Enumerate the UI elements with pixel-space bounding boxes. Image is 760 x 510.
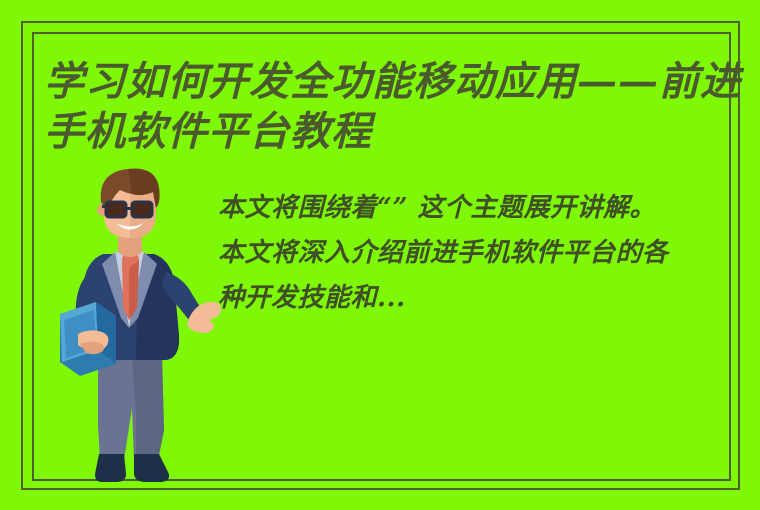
poster-canvas: 学习如何开发全功能移动应用——前进 手机软件平台教程 本文将围绕着“” 这个主题… [0,0,760,510]
trousers-shadow-shape [132,354,164,460]
left-shoe-shape [95,454,126,482]
right-shoe-shape [134,454,169,482]
title-line-2: 手机软件平台教程 [44,107,734,157]
glasses-icon [102,202,152,217]
body-line-1: 本文将围绕着“” 这个主题展开讲解。 [218,186,734,231]
businessman-presenter-illustration [58,168,223,490]
body-line-2: 本文将深入介绍前进手机软件平台的各 [218,231,734,276]
body-line-3: 种开发技能和... [218,276,734,321]
poster-body-text: 本文将围绕着“” 这个主题展开讲解。 本文将深入介绍前进手机软件平台的各 种开发… [218,186,734,321]
poster-title: 学习如何开发全功能移动应用——前进 手机软件平台教程 [44,57,734,157]
title-line-1: 学习如何开发全功能移动应用——前进 [44,57,734,107]
